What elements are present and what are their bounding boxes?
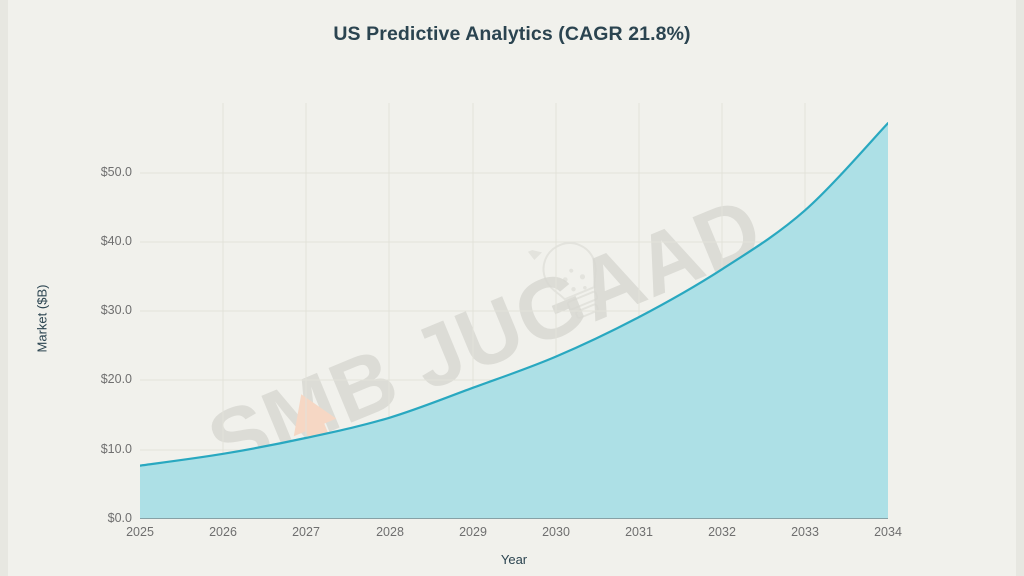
- y-tick-label: $40.0: [101, 234, 132, 248]
- y-axis-title: Market ($B): [35, 259, 50, 379]
- chart-title: US Predictive Analytics (CAGR 21.8%): [0, 23, 1024, 46]
- x-tick-label: 2032: [692, 525, 752, 539]
- left-edge-band: [0, 0, 8, 576]
- chart-figure: US Predictive Analytics (CAGR 21.8%) Mar…: [0, 0, 1024, 576]
- x-tick-label: 2026: [193, 525, 253, 539]
- y-tick-label: $50.0: [101, 165, 132, 179]
- y-tick-label: $10.0: [101, 442, 132, 456]
- x-axis-title: Year: [140, 552, 888, 567]
- y-tick-label: $0.0: [108, 511, 132, 525]
- x-tick-label: 2029: [443, 525, 503, 539]
- x-tick-label: 2031: [609, 525, 669, 539]
- right-edge-band: [1016, 0, 1024, 576]
- x-tick-label: 2033: [775, 525, 835, 539]
- y-tick-label: $30.0: [101, 303, 132, 317]
- x-tick-label: 2025: [110, 525, 170, 539]
- y-tick-label: $20.0: [101, 372, 132, 386]
- plot-area: [140, 103, 888, 519]
- x-tick-label: 2028: [360, 525, 420, 539]
- area-fill: [140, 123, 888, 519]
- area-chart-svg: [140, 103, 888, 519]
- x-tick-label: 2030: [526, 525, 586, 539]
- x-tick-label: 2034: [858, 525, 918, 539]
- x-tick-label: 2027: [276, 525, 336, 539]
